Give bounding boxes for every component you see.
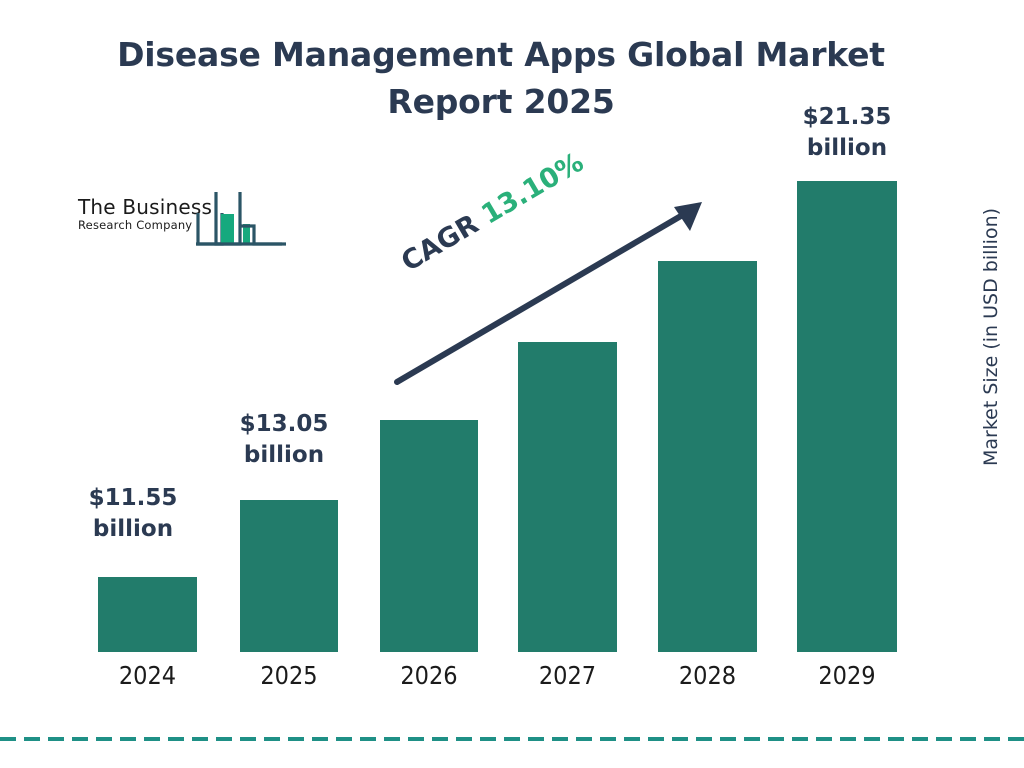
x-tick-2026: 2026 <box>380 661 478 691</box>
x-tick-2028: 2028 <box>658 661 757 691</box>
data-label-2029-unit: billion <box>785 133 909 164</box>
data-label-2029-amount: $21.35 <box>785 102 909 133</box>
data-label-2024-amount: $11.55 <box>72 483 194 514</box>
x-tick-2029: 2029 <box>797 661 897 691</box>
x-tick-2027: 2027 <box>518 661 617 691</box>
data-label-2025-amount: $13.05 <box>223 409 345 440</box>
bar-chart-plot-area: $11.55 billion $13.05 billion $21.35 bil… <box>0 0 1024 768</box>
footer-divider <box>0 728 1024 732</box>
bar-2029[interactable] <box>797 181 897 652</box>
x-tick-2025: 2025 <box>240 661 338 691</box>
data-label-2024: $11.55 billion <box>72 483 194 545</box>
data-label-2029: $21.35 billion <box>785 102 909 164</box>
data-label-2025: $13.05 billion <box>223 409 345 471</box>
y-axis-title: Market Size (in USD billion) <box>980 187 1002 487</box>
bar-2026[interactable] <box>380 420 478 652</box>
data-label-2025-unit: billion <box>223 440 345 471</box>
bar-2024[interactable] <box>98 577 197 652</box>
chart-page: Disease Management Apps Global Market Re… <box>0 0 1024 768</box>
x-tick-2024: 2024 <box>98 661 197 691</box>
bar-2025[interactable] <box>240 500 338 652</box>
data-label-2024-unit: billion <box>72 514 194 545</box>
growth-trend-arrow-icon <box>380 190 720 400</box>
